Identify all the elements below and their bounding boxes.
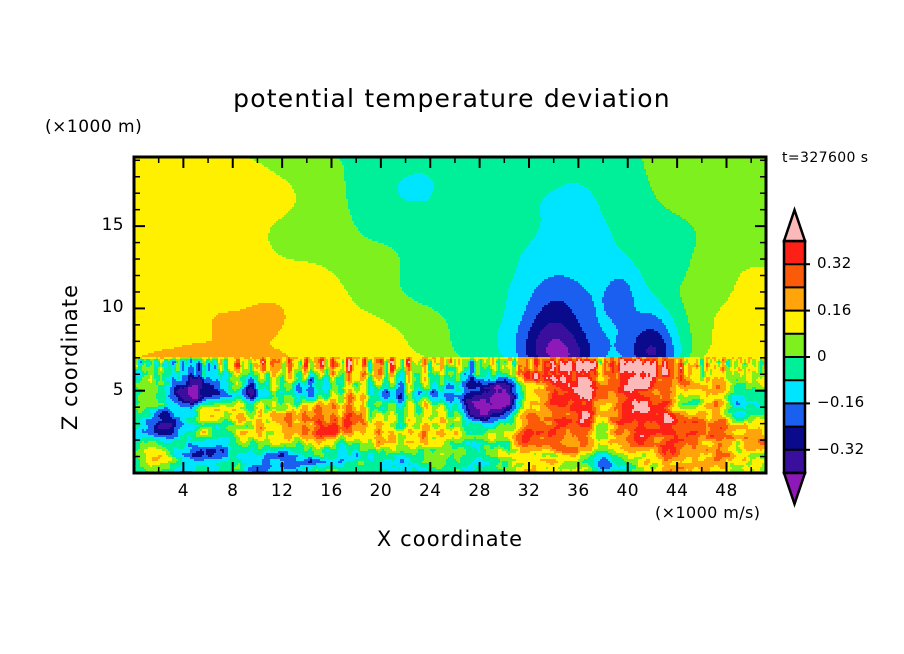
y-axis-tick-label: 5 [84, 380, 124, 400]
y-axis-tick-label: 10 [84, 297, 124, 317]
x-axis-tick-label: 4 [163, 481, 203, 501]
x-axis-tick-label: 12 [262, 481, 302, 501]
x-axis-tick-label: 40 [608, 481, 648, 501]
colorbar-tick-label: 0.16 [817, 301, 852, 319]
colorbar [784, 210, 810, 504]
x-axis-tick-label: 48 [707, 481, 747, 501]
colorbar-tick-label: 0 [817, 347, 827, 365]
contour-plot-figure: potential temperature deviation (×1000 m… [0, 0, 904, 654]
contour-field [134, 157, 766, 473]
x-axis-tick-label: 24 [410, 481, 450, 501]
x-axis-tick-label: 36 [558, 481, 598, 501]
plot-canvas [0, 0, 904, 654]
x-axis-tick-label: 8 [213, 481, 253, 501]
colorbar-tick-label: −0.16 [817, 393, 864, 411]
x-axis-tick-label: 28 [460, 481, 500, 501]
colorbar-tick-label: −0.32 [817, 440, 864, 458]
x-axis-tick-label: 16 [312, 481, 352, 501]
y-axis-tick-label: 15 [84, 215, 124, 235]
colorbar-tick-label: 0.32 [817, 254, 852, 272]
x-axis-tick-label: 32 [509, 481, 549, 501]
x-axis-tick-label: 44 [657, 481, 697, 501]
x-axis-tick-label: 20 [361, 481, 401, 501]
